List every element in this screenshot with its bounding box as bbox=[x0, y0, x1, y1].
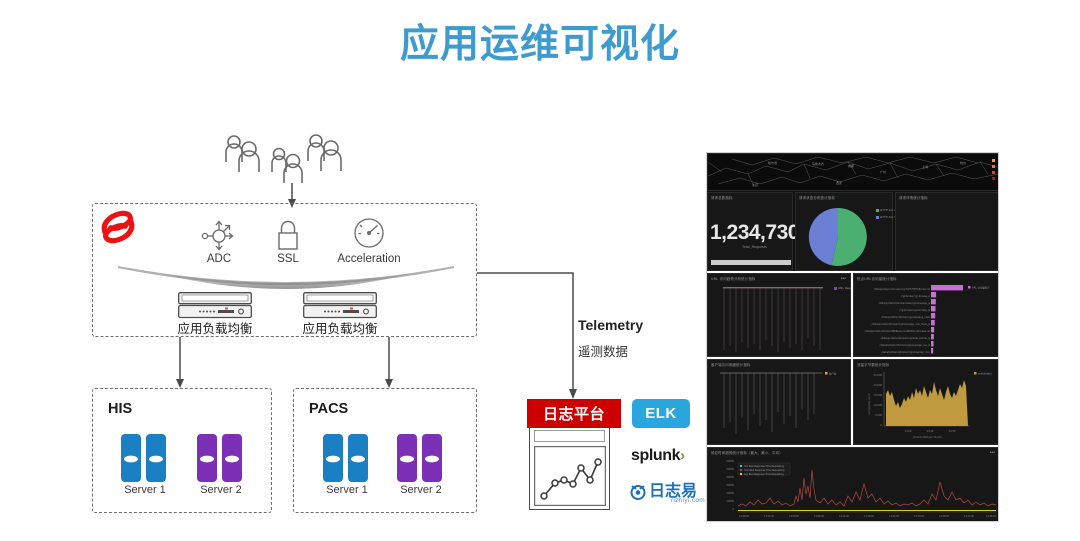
svg-text:/data/portal/url/access.log/%2: /data/portal/url/access.log/%25/HTTP-Bro… bbox=[874, 288, 931, 291]
panel-separator-v1 bbox=[851, 273, 853, 445]
url-timeline-legend-dot bbox=[834, 287, 837, 290]
pie-legend-dot-2 bbox=[876, 216, 879, 219]
svg-text:13:48:00: 13:48:00 bbox=[739, 515, 749, 518]
svg-text:/data/portal/url/broker/cgi/vi: /data/portal/url/broker/cgi/view/app_vie… bbox=[881, 316, 930, 319]
panel-separator-h2 bbox=[707, 357, 999, 359]
client-list-chart: 客户端 bbox=[718, 370, 834, 442]
geo-map-lines: 北京乌鲁木齐 成都广州 上海杭州 哈尔滨西安 bbox=[708, 154, 999, 192]
radware-swirl-logo bbox=[98, 210, 138, 244]
svg-text:上海: 上海 bbox=[922, 164, 928, 169]
svg-text:sum(bytes) count: sum(bytes) count bbox=[868, 393, 871, 414]
client-list-title: 客户端访问明细统计指标 bbox=[711, 362, 751, 367]
his-server-1-icon bbox=[120, 434, 168, 482]
pacs-title: PACS bbox=[309, 401, 348, 417]
his-server-2-icon bbox=[196, 434, 244, 482]
rizhiyi-logo: 日志易 rizhiyi.com bbox=[629, 482, 697, 500]
svg-text:14:18:00: 14:18:00 bbox=[864, 515, 874, 518]
architecture-diagram: ADC SSL Acceleration bbox=[0, 0, 700, 541]
users-icons bbox=[218, 132, 344, 188]
acceleration-label: Acceleration bbox=[320, 253, 418, 265]
ssl-padlock-icon bbox=[275, 218, 301, 251]
svg-text:/data/portal/url/broker/cgi/vi: /data/portal/url/broker/cgi/view/app_css… bbox=[880, 344, 931, 347]
svg-text:avg Real Response Time Request: avg Real Response Time Requesting bbox=[744, 473, 784, 476]
url-timeline-scatter bbox=[720, 284, 832, 354]
svg-text:14:00: 14:00 bbox=[905, 430, 912, 433]
total-requests-caption: Total_Requests bbox=[742, 245, 767, 249]
traffic-area-chart: 25,00020,000 15,00010,000 5,0000 14:0014… bbox=[860, 368, 998, 444]
pacs-server-2-icon bbox=[396, 434, 444, 482]
svg-text:西安: 西安 bbox=[836, 180, 842, 185]
svg-text:/data/portal/url/broker/web/cg: /data/portal/url/broker/web/cgi/view/app… bbox=[879, 302, 931, 305]
svg-text:14:06:00: 14:06:00 bbox=[814, 515, 824, 518]
svg-text:哈尔滨: 哈尔滨 bbox=[768, 160, 777, 165]
url-timeline-title: URL 访问趋势分析统计指标 bbox=[711, 276, 756, 281]
svg-text:14:36:00: 14:36:00 bbox=[939, 515, 949, 518]
his-title: HIS bbox=[108, 401, 132, 417]
geo-map-panel[interactable]: 北京乌鲁木齐 成都广州 上海杭州 哈尔滨西安 bbox=[707, 153, 999, 191]
traffic-funnel-shape bbox=[118, 266, 454, 300]
response-time-line-chart: 6000050000 4000030000 2000010000 0 min R… bbox=[710, 456, 999, 522]
load-balancer-appliance-icon bbox=[178, 292, 252, 320]
svg-text:14:00:00: 14:00:00 bbox=[789, 515, 799, 518]
rizhiyi-mark-icon bbox=[629, 482, 647, 500]
svg-text:14:24:00: 14:24:00 bbox=[889, 515, 899, 518]
blank-panel-title: 请求详情统计指标 bbox=[899, 195, 928, 200]
acceleration-gauge-icon bbox=[352, 216, 386, 250]
svg-text:10000: 10000 bbox=[726, 500, 734, 503]
svg-text:5,000: 5,000 bbox=[875, 414, 882, 417]
svg-text:0: 0 bbox=[732, 508, 734, 511]
svg-text:14:48:00: 14:48:00 bbox=[986, 515, 996, 518]
svg-text:min Real Response Time Request: min Real Response Time Requesting bbox=[744, 465, 784, 468]
ssl-label: SSL bbox=[248, 253, 328, 265]
pacs-server-1-label: Server 1 bbox=[316, 484, 378, 496]
status-pie-chart bbox=[806, 205, 870, 269]
his-server-1-label: Server 1 bbox=[114, 484, 176, 496]
edge-to-apps-connectors bbox=[92, 337, 482, 391]
svg-text:50000: 50000 bbox=[726, 468, 734, 471]
total-requests-title: 请求总数指标 bbox=[711, 195, 733, 200]
svg-text:/cgi/broker/cgi-bin/http_js: /cgi/broker/cgi-bin/http_js bbox=[900, 309, 931, 312]
splunk-chevron-icon: › bbox=[680, 447, 685, 464]
load-balancer-appliance-icon bbox=[303, 292, 377, 320]
his-server-2-label: Server 2 bbox=[190, 484, 252, 496]
pacs-server-1-icon bbox=[322, 434, 370, 482]
svg-text:13:54:00: 13:54:00 bbox=[764, 515, 774, 518]
log-analytics-dashboard[interactable]: 北京乌鲁木齐 成都广州 上海杭州 哈尔滨西安 请求总数指标 1,234,730 … bbox=[706, 152, 999, 522]
client-list-panel[interactable]: 客户端访问明细统计指标 客户端 bbox=[707, 359, 851, 445]
svg-text:/cgi/broker/cgi-browse_p: /cgi/broker/cgi-browse_p bbox=[901, 295, 931, 298]
svg-text:成都: 成都 bbox=[848, 163, 854, 168]
telemetry-connector bbox=[477, 268, 587, 404]
status-distribution-panel[interactable]: 请求状态分布统计指标 HTTP 2xx / 3xx HTTP 4xx / 5xx bbox=[795, 192, 893, 271]
svg-text:/data/portal/url/broker/cgi/vi: /data/portal/url/broker/cgi/view/app_ico… bbox=[881, 351, 930, 354]
svg-text:杭州: 杭州 bbox=[960, 160, 966, 165]
svg-text:/data/portal/url/broker/cgi/we: /data/portal/url/broker/cgi/web/_Admin_j… bbox=[881, 337, 931, 340]
svg-text:广州: 广州 bbox=[880, 169, 886, 174]
rizhiyi-url: rizhiyi.com bbox=[671, 497, 705, 504]
traffic-area-panel[interactable]: 流量字节数统计指标 25,00020,000 15,00010,000 5,00… bbox=[853, 359, 999, 445]
top-url-hbar-chart: /data/portal/url/access.log/%25/HTTP-Bro… bbox=[858, 282, 998, 356]
svg-text:20,000: 20,000 bbox=[874, 384, 883, 387]
total-requests-value: 1,234,730 bbox=[710, 221, 799, 245]
svg-text:10,000: 10,000 bbox=[874, 404, 883, 407]
response-time-panel[interactable]: 响应时间趋势统计指标（最大、最小、平均） ••• 6000050000 4000… bbox=[707, 447, 999, 522]
total-requests-panel[interactable]: 请求总数指标 1,234,730 Total_Requests bbox=[707, 192, 793, 271]
url-timeline-menu-icon[interactable]: ••• bbox=[841, 276, 846, 282]
splunk-logo: splunk› bbox=[631, 447, 685, 465]
load-balancer-label-1: 应用负载均衡 bbox=[170, 318, 260, 337]
splunk-wordmark: splunk bbox=[631, 447, 680, 464]
svg-text:30000: 30000 bbox=[726, 484, 734, 487]
panel-separator-h3 bbox=[707, 445, 999, 447]
svg-text:25,000: 25,000 bbox=[874, 374, 883, 377]
telemetry-label-en: Telemetry bbox=[578, 317, 643, 333]
status-distribution-title: 请求状态分布统计指标 bbox=[799, 195, 835, 200]
pie-legend-dot-1 bbox=[876, 209, 879, 212]
pacs-server-2-label: Server 2 bbox=[390, 484, 452, 496]
svg-text:14:15: 14:15 bbox=[927, 430, 934, 433]
svg-text:14:30: 14:30 bbox=[949, 430, 956, 433]
top-url-panel[interactable]: 热点URL访问量统计指标 /data/portal/url/access.log… bbox=[853, 273, 999, 357]
svg-text:0: 0 bbox=[880, 424, 882, 427]
svg-text:40000: 40000 bbox=[726, 476, 734, 479]
panel-separator-h1 bbox=[707, 271, 999, 273]
url-timeline-panel[interactable]: URL 访问趋势分析统计指标 ••• URL Requests bbox=[707, 273, 851, 357]
blank-panel[interactable]: 请求详情统计指标 bbox=[895, 192, 999, 271]
log-platform-chart-card bbox=[529, 425, 610, 510]
svg-text:max Real Response Time Request: max Real Response Time Requesting bbox=[744, 469, 785, 472]
response-time-title: 响应时间趋势统计指标（最大、最小、平均） bbox=[711, 450, 783, 455]
elk-badge[interactable]: ELK bbox=[632, 399, 690, 428]
log-platform-badge[interactable]: 日志平台 bbox=[527, 399, 621, 428]
svg-text:15,000: 15,000 bbox=[874, 394, 883, 397]
adc-network-node-icon bbox=[198, 219, 240, 251]
svg-text:北京: 北京 bbox=[752, 182, 758, 187]
svg-text:14:12:00: 14:12:00 bbox=[839, 515, 849, 518]
svg-text:客户端: 客户端 bbox=[829, 372, 837, 376]
svg-text:14:30:00: 14:30:00 bbox=[914, 515, 924, 518]
svg-text:_time bucket per minute: _time bucket per minute bbox=[911, 436, 942, 439]
svg-text:20000: 20000 bbox=[726, 492, 734, 495]
total-requests-progressbar bbox=[711, 260, 791, 265]
svg-text:14:42:00: 14:42:00 bbox=[964, 515, 974, 518]
top-url-title: 热点URL访问量统计指标 bbox=[857, 276, 897, 281]
chart-card-header-bar bbox=[534, 430, 605, 442]
svg-text:/data/portal/url/broker/cgi/vi: /data/portal/url/broker/cgi/view/app_css… bbox=[872, 323, 931, 326]
telemetry-label-cn: 遥测数据 bbox=[578, 341, 628, 360]
line-chart-card-icon bbox=[534, 446, 606, 506]
svg-text:乌鲁木齐: 乌鲁木齐 bbox=[812, 161, 824, 166]
load-balancer-label-2: 应用负载均衡 bbox=[295, 318, 385, 337]
svg-text:sum(bytes): sum(bytes) bbox=[978, 373, 992, 376]
svg-text:/data/portal/url/broker/BPIRes: /data/portal/url/broker/BPIResource/BDP/… bbox=[865, 330, 931, 333]
traffic-area-title: 流量字节数统计指标 bbox=[857, 362, 889, 367]
svg-text:60000: 60000 bbox=[726, 460, 734, 463]
svg-text:URL 访问量统计: URL 访问量统计 bbox=[972, 286, 990, 290]
